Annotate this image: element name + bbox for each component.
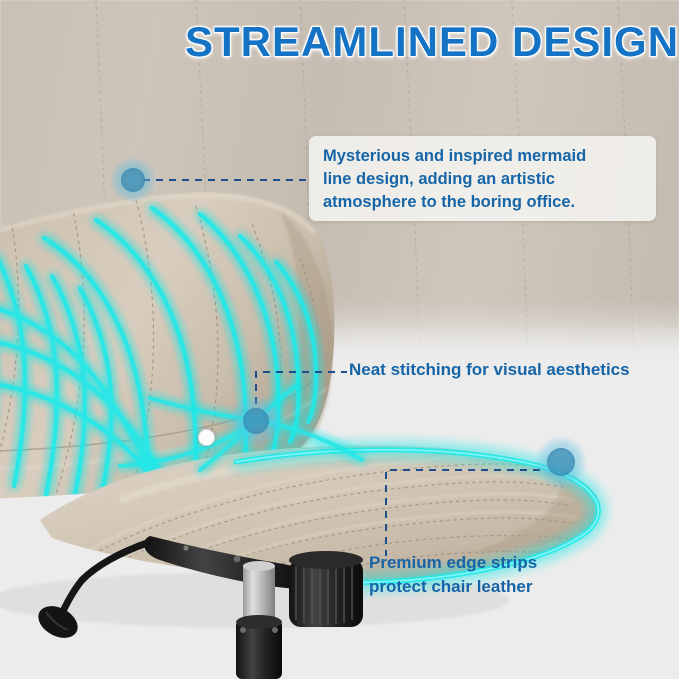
hotspot-marker-edge-strip[interactable] [535,436,587,488]
marker-core [243,408,269,434]
marker-core [547,448,575,476]
callout-line-1: Premium edge strips [369,551,537,575]
callout-line-3: atmosphere to the boring office. [323,191,642,214]
callout-neat-stitching: Neat stitching for visual aesthetics [349,360,630,380]
page-title: STREAMLINED DESIGN [185,18,679,66]
callout-line-1: Neat stitching for visual aesthetics [349,360,630,380]
product-image-canvas: STREAMLINED DESIGN Mysterious and inspir… [0,0,679,679]
office-chair-product [0,0,679,679]
callout-premium-edge-strips: Premium edge strips protect chair leathe… [369,551,537,599]
hotspot-dot-white[interactable] [198,429,215,446]
hotspot-marker-mermaid[interactable] [110,157,156,203]
callout-line-2: line design, adding an artistic [323,168,642,191]
marker-core [121,168,145,192]
hotspot-marker-stitching[interactable] [230,395,282,447]
callout-line-1: Mysterious and inspired mermaid [323,145,642,168]
callout-line-2: protect chair leather [369,575,537,599]
tension-knob [289,551,363,627]
callout-mermaid-line-design: Mysterious and inspired mermaid line des… [309,136,656,221]
